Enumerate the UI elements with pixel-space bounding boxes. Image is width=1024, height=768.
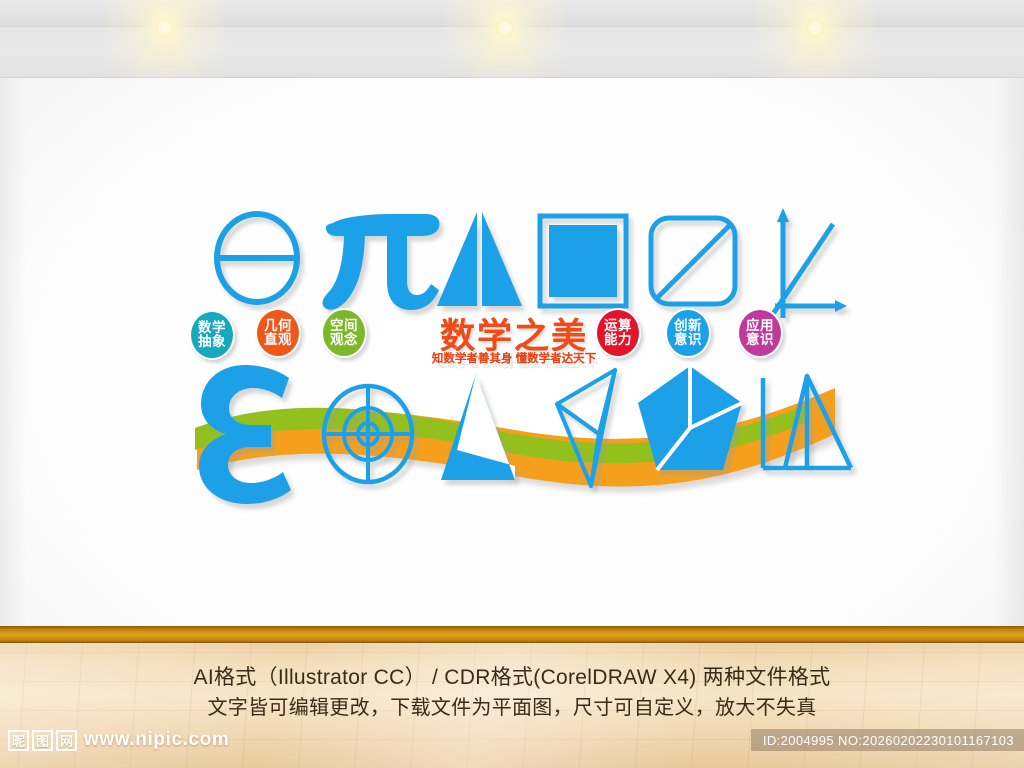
- watermark-id-bar: ID:2004995 NO:20260202230101167103: [751, 729, 1024, 751]
- floor-baseboard: [0, 626, 1024, 643]
- wall-artwork: 数学 抽象 几何 直观 空间 观念 运算 能力 创新 意识 应用 意识: [185, 198, 845, 478]
- watermark-brand-logo: 昵 图 网: [8, 730, 77, 751]
- badge-innovation-awareness[interactable]: 创新 意识: [665, 308, 711, 358]
- wall-right-shading: [994, 78, 1024, 626]
- spotlight-bulb-icon: [496, 19, 514, 37]
- artwork-subtitle: 知数学者善其身 懂数学者达天下: [403, 350, 625, 366]
- badge-line1: 应用: [746, 319, 774, 333]
- site-watermark: 昵 图 网 www.nipic.com: [8, 729, 229, 751]
- badge-line2: 直观: [264, 333, 292, 347]
- badge-spatial-concept[interactable]: 空间 观念: [321, 308, 367, 358]
- badge-line2: 抽象: [198, 335, 226, 349]
- screenshot-root: 数学 抽象 几何 直观 空间 观念 运算 能力 创新 意识 应用 意识: [0, 0, 1024, 768]
- watermark-char-2: 图: [32, 730, 53, 751]
- badge-line1: 数学: [198, 321, 226, 335]
- badge-line1: 创新: [674, 319, 702, 333]
- badge-line2: 能力: [604, 333, 632, 347]
- caption-line-2: 文字皆可编辑更改，下载文件为平面图，尺寸可自定义，放大不失真: [0, 693, 1024, 723]
- spotlight-bulb-icon: [156, 19, 174, 37]
- caption-line-1: AI格式（Illustrator CC） / CDR格式(CorelDRAW X…: [0, 663, 1024, 693]
- bottom-caption: AI格式（Illustrator CC） / CDR格式(CorelDRAW X…: [0, 663, 1024, 723]
- watermark-char-1: 昵: [8, 730, 29, 751]
- wall-left-shading: [0, 78, 26, 626]
- badge-line2: 意识: [746, 333, 774, 347]
- badge-line1: 空间: [330, 319, 358, 333]
- badge-math-abstraction[interactable]: 数学 抽象: [189, 310, 235, 360]
- watermark-char-3: 网: [56, 730, 77, 751]
- badge-line1: 运算: [604, 319, 632, 333]
- badge-geometry-intuition[interactable]: 几何 直观: [255, 308, 301, 358]
- watermark-url: www.nipic.com: [84, 729, 229, 751]
- badge-application-awareness[interactable]: 应用 意识: [737, 308, 783, 358]
- badge-line1: 几何: [264, 319, 292, 333]
- spotlight-bulb-icon: [806, 19, 824, 37]
- badge-line2: 意识: [674, 333, 702, 347]
- badge-line2: 观念: [330, 333, 358, 347]
